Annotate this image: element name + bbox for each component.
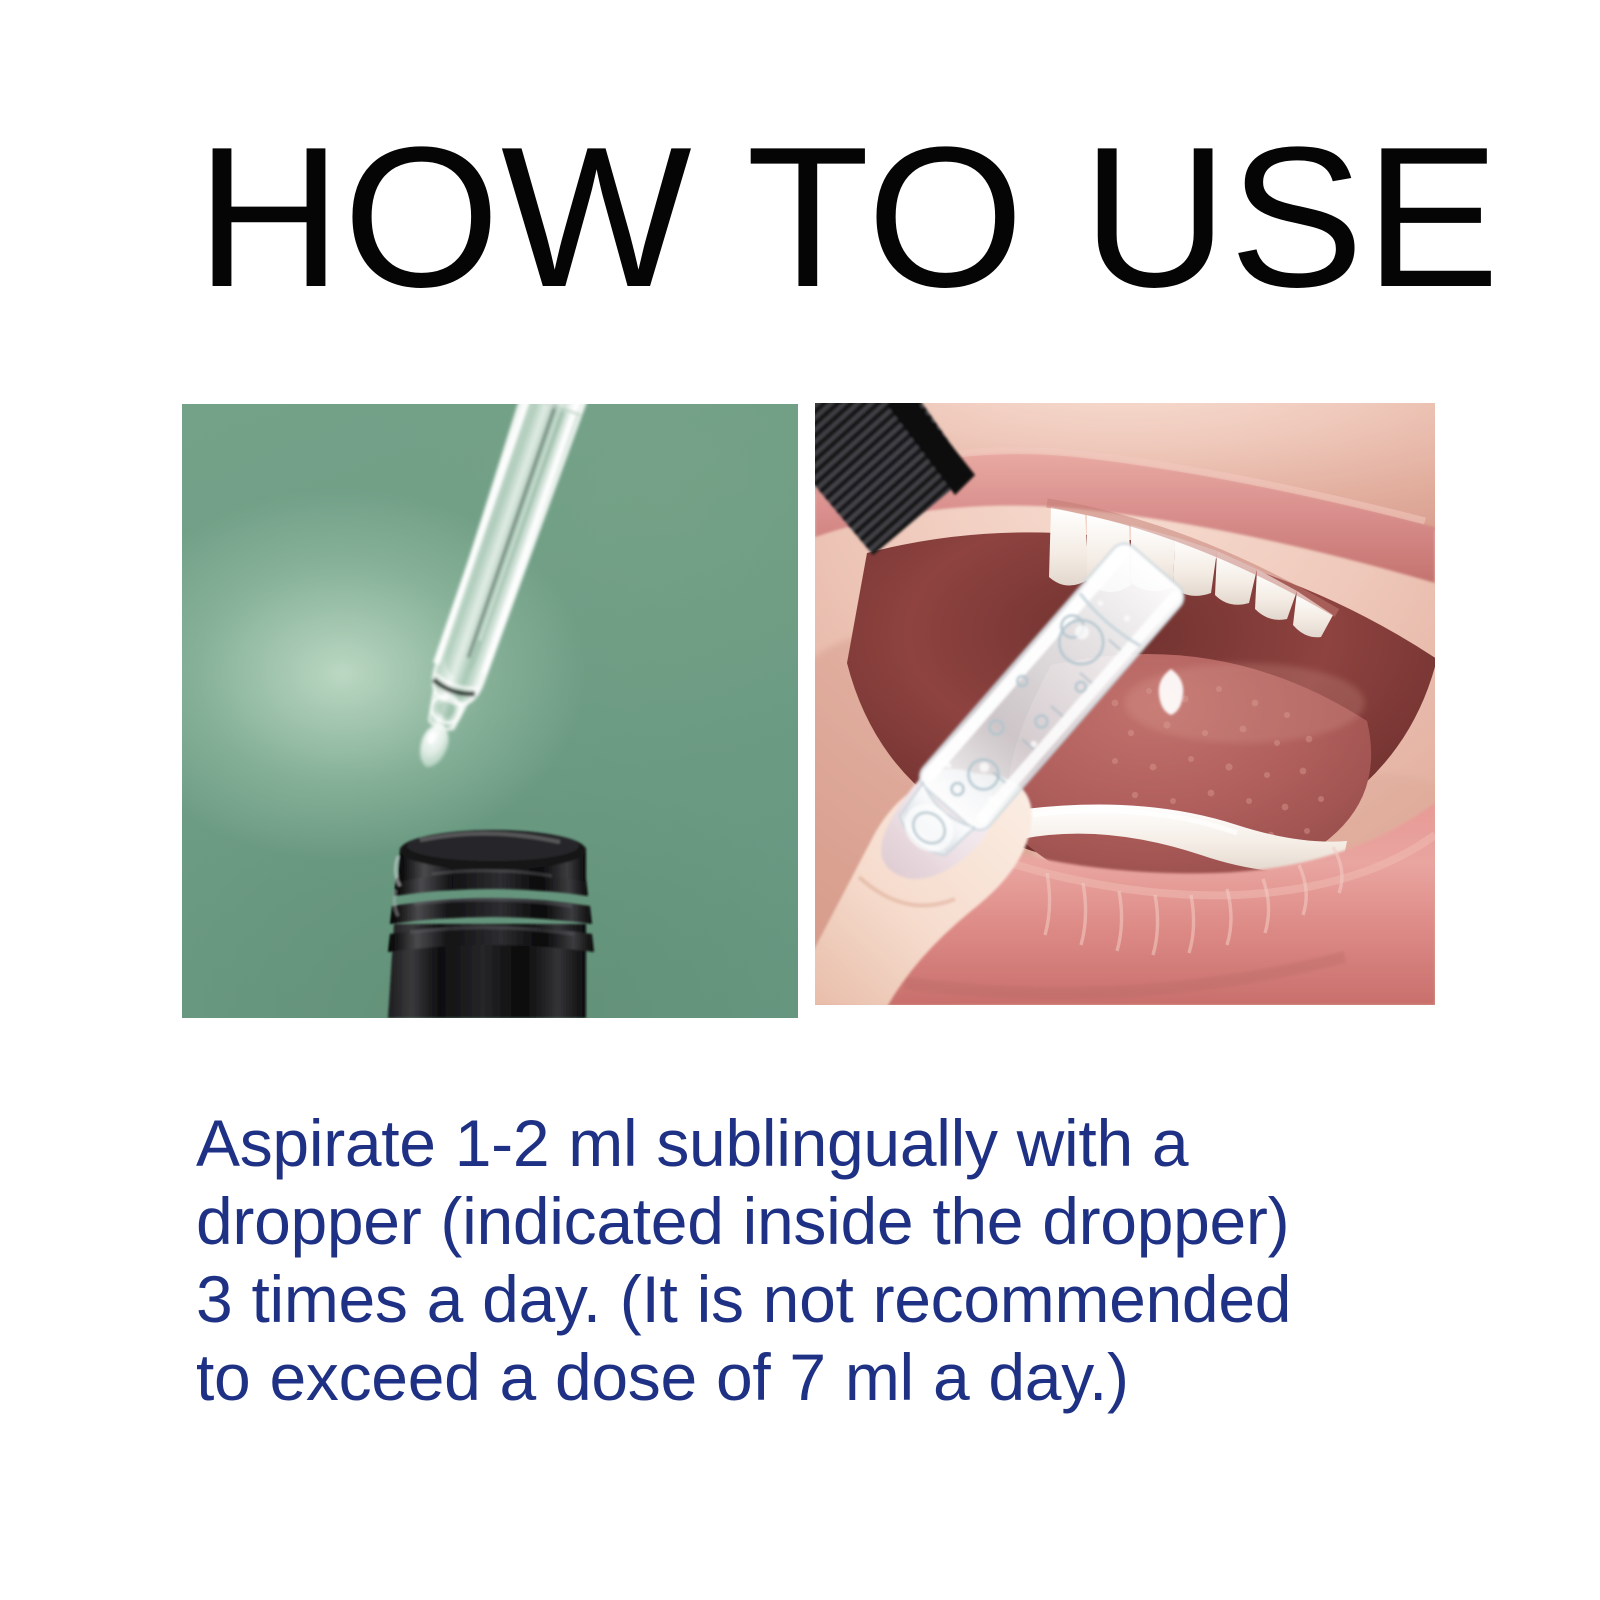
- page-title: HOW TO USE: [196, 118, 1448, 318]
- instruction-line: Aspirate 1-2 ml sublingually with a: [196, 1104, 1466, 1182]
- instruction-text: Aspirate 1-2 ml sublingually with a drop…: [196, 1104, 1466, 1416]
- sublingual-application-photo: [815, 403, 1435, 1005]
- instruction-line: dropper (indicated inside the dropper): [196, 1182, 1466, 1260]
- dropper-over-bottle-photo: [182, 404, 798, 1018]
- instruction-line: 3 times a day. (It is not recommended: [196, 1260, 1466, 1338]
- instruction-line: to exceed a dose of 7 ml a day.): [196, 1338, 1466, 1416]
